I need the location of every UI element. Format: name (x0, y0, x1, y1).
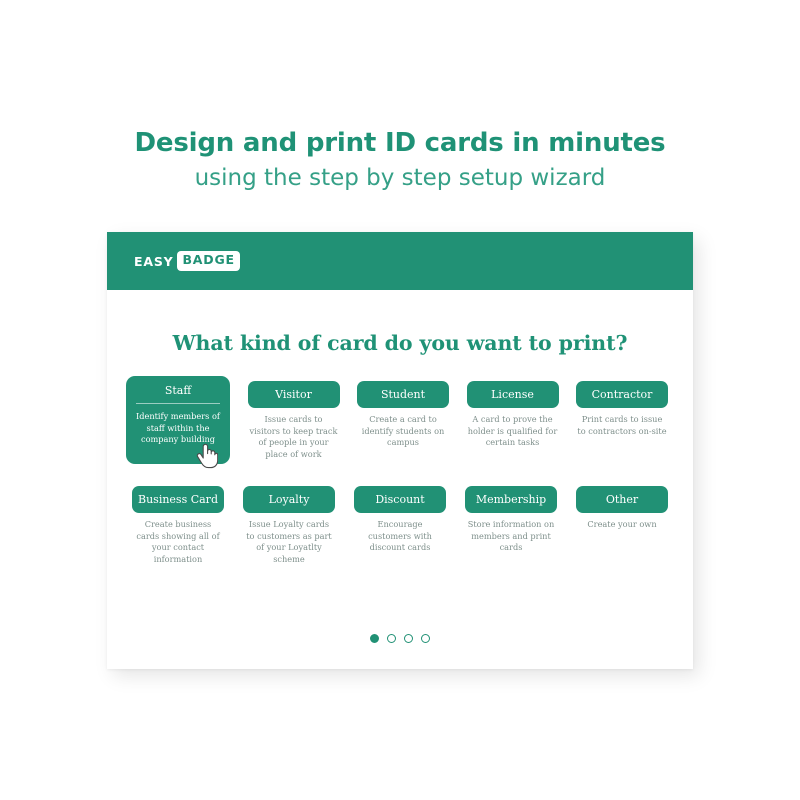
card-option-license[interactable]: License A card to prove the holder is qu… (467, 381, 559, 464)
card-option-label: Other (576, 486, 668, 513)
card-option-student[interactable]: Student Create a card to identify studen… (357, 381, 449, 464)
card-option-description: Identify members of staff within the com… (132, 411, 224, 446)
card-option-membership[interactable]: Membership Store information on members … (465, 486, 557, 566)
card-option-description: Store information on members and print c… (465, 519, 557, 554)
wizard-pagination (107, 634, 693, 643)
card-option-description: Issue Loyalty cards to customers as part… (243, 519, 335, 566)
card-type-grid: Staff Identify members of staff within t… (107, 381, 693, 565)
pagination-dot-1[interactable] (370, 634, 379, 643)
card-option-description: Create a card to identify students on ca… (357, 414, 449, 449)
hero-subtitle: using the step by step setup wizard (0, 164, 800, 193)
card-option-label: Membership (465, 486, 557, 513)
card-option-visitor[interactable]: Visitor Issue cards to visitors to keep … (248, 381, 340, 464)
card-option-description: Issue cards to visitors to keep track of… (248, 414, 340, 461)
card-row-1: Staff Identify members of staff within t… (132, 381, 668, 464)
app-window: EASY BADGE What kind of card do you want… (107, 232, 693, 669)
card-option-description: Print cards to issue to contractors on-s… (576, 414, 668, 437)
card-option-contractor[interactable]: Contractor Print cards to issue to contr… (576, 381, 668, 464)
card-option-label: Business Card (132, 486, 224, 513)
card-option-label: Visitor (248, 381, 340, 408)
pagination-dot-4[interactable] (421, 634, 430, 643)
wizard-body: What kind of card do you want to print? … (107, 290, 693, 669)
wizard-question: What kind of card do you want to print? (107, 290, 693, 355)
card-option-description: Encourage customers with discount cards (354, 519, 446, 554)
card-option-label: Staff (136, 381, 220, 404)
card-option-label: Loyalty (243, 486, 335, 513)
pagination-dot-2[interactable] (387, 634, 396, 643)
card-option-label: Student (357, 381, 449, 408)
card-option-description: Create business cards showing all of you… (132, 519, 224, 566)
card-option-discount[interactable]: Discount Encourage customers with discou… (354, 486, 446, 566)
hero-heading: Design and print ID cards in minutes usi… (0, 128, 800, 192)
hero-title: Design and print ID cards in minutes (0, 128, 800, 160)
card-option-label: Contractor (576, 381, 668, 408)
card-option-loyalty[interactable]: Loyalty Issue Loyalty cards to customers… (243, 486, 335, 566)
card-row-2: Business Card Create business cards show… (132, 486, 668, 566)
app-header-bar: EASY BADGE (107, 232, 693, 290)
card-option-description: A card to prove the holder is qualified … (467, 414, 559, 449)
card-option-label: Discount (354, 486, 446, 513)
card-option-description: Create your own (576, 519, 668, 531)
card-option-staff[interactable]: Staff Identify members of staff within t… (126, 376, 230, 464)
card-option-label: License (467, 381, 559, 408)
pagination-dot-3[interactable] (404, 634, 413, 643)
logo-badge-text: BADGE (177, 251, 239, 271)
logo-easy-text: EASY (134, 254, 173, 269)
card-option-other[interactable]: Other Create your own (576, 486, 668, 566)
card-option-business-card[interactable]: Business Card Create business cards show… (132, 486, 224, 566)
easybadge-logo[interactable]: EASY BADGE (134, 251, 240, 271)
